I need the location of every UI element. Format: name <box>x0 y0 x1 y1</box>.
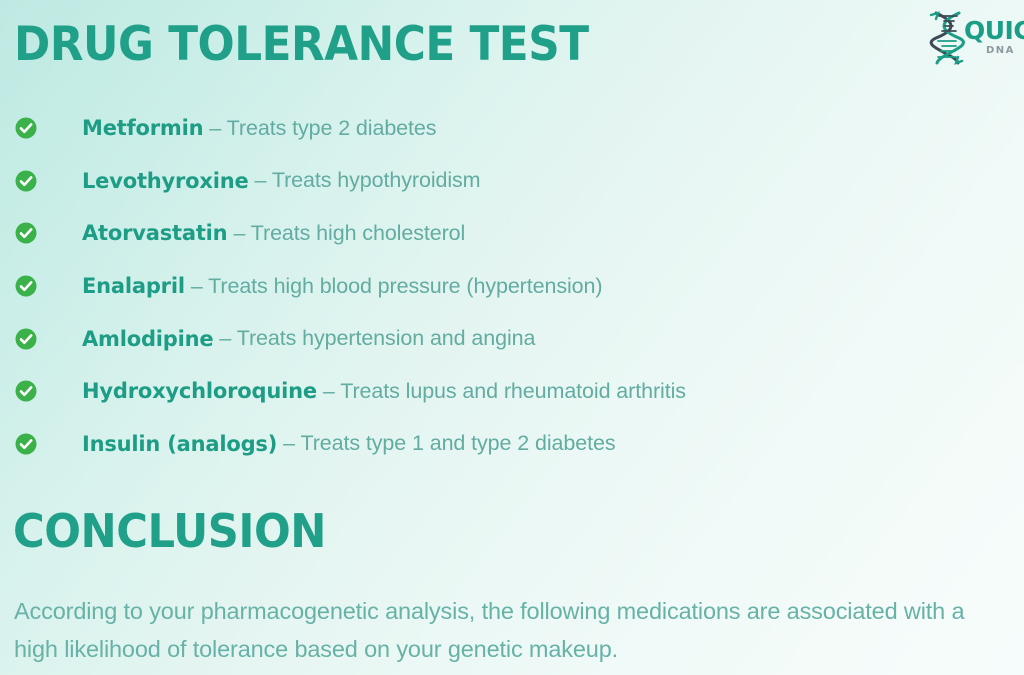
conclusion-heading: CONCLUSION <box>13 508 326 554</box>
check-circle-icon <box>15 328 37 350</box>
report-page: QUICK DNA DRUG TOLERANCE TEST Metformin … <box>0 0 1024 675</box>
page-title: DRUG TOLERANCE TEST <box>14 21 589 68</box>
dna-helix-icon <box>926 10 968 66</box>
drug-name: Insulin (analogs) <box>82 432 277 456</box>
list-item: Metformin – Treats type 2 diabetes <box>0 102 1024 155</box>
list-item: Amlodipine – Treats hypertension and ang… <box>0 312 1024 365</box>
drug-description: – Treats high blood pressure (hypertensi… <box>191 274 603 299</box>
drug-name: Metformin <box>82 116 203 140</box>
list-item: Atorvastatin – Treats high cholesterol <box>0 207 1024 260</box>
drug-name: Amlodipine <box>82 327 213 351</box>
drug-name: Hydroxychloroquine <box>82 379 317 403</box>
check-circle-icon <box>15 222 37 244</box>
check-circle-icon <box>15 170 37 192</box>
check-circle-icon <box>15 117 37 139</box>
list-item: Levothyroxine – Treats hypothyroidism <box>0 155 1024 208</box>
check-circle-icon <box>15 275 37 297</box>
check-circle-icon <box>15 433 37 455</box>
drug-description: – Treats hypothyroidism <box>255 168 481 193</box>
drug-name: Levothyroxine <box>82 169 249 193</box>
brand-name: QUICK <box>964 18 1024 43</box>
drug-name: Enalapril <box>82 274 185 298</box>
drug-name: Atorvastatin <box>82 221 227 245</box>
drug-description: – Treats type 2 diabetes <box>209 116 436 141</box>
drug-description: – Treats high cholesterol <box>233 221 465 246</box>
brand-logo: QUICK DNA <box>924 8 1024 70</box>
list-item: Hydroxychloroquine – Treats lupus and rh… <box>0 365 1024 418</box>
drug-description: – Treats lupus and rheumatoid arthritis <box>323 379 686 404</box>
brand-wordmark: QUICK DNA <box>964 18 1024 56</box>
brand-subtitle: DNA <box>986 46 1024 56</box>
conclusion-body: According to your pharmacogenetic analys… <box>14 592 989 668</box>
drug-description: – Treats type 1 and type 2 diabetes <box>283 431 615 456</box>
drug-list: Metformin – Treats type 2 diabetes Levot… <box>0 102 1024 470</box>
drug-description: – Treats hypertension and angina <box>219 326 535 351</box>
check-circle-icon <box>15 380 37 402</box>
list-item: Enalapril – Treats high blood pressure (… <box>0 260 1024 313</box>
list-item: Insulin (analogs) – Treats type 1 and ty… <box>0 418 1024 471</box>
